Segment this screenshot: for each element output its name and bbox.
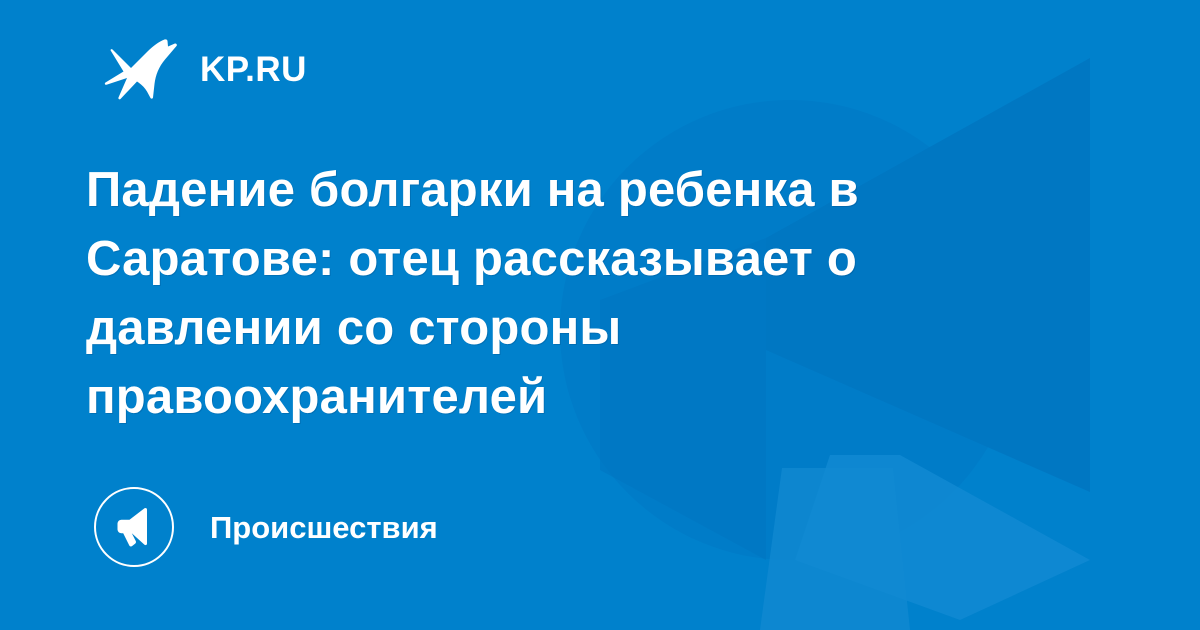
brand-name: KP.RU	[200, 52, 307, 87]
page-title: Падение болгарки на ребенка в Саратове: …	[86, 156, 1026, 432]
megaphone-icon	[113, 506, 155, 548]
swallow-bird-icon	[104, 38, 178, 100]
rubric-label: Происшествия	[210, 512, 438, 543]
watermark-megaphone-handle	[795, 455, 1090, 620]
rubric-badge[interactable]: Происшествия	[94, 485, 438, 569]
share-card: KP.RU Падение болгарки на ребенка в Сара…	[0, 0, 1200, 630]
rubric-icon-circle	[94, 487, 174, 567]
watermark-megaphone-grip	[760, 468, 910, 630]
brand-logo[interactable]: KP.RU	[104, 36, 307, 102]
